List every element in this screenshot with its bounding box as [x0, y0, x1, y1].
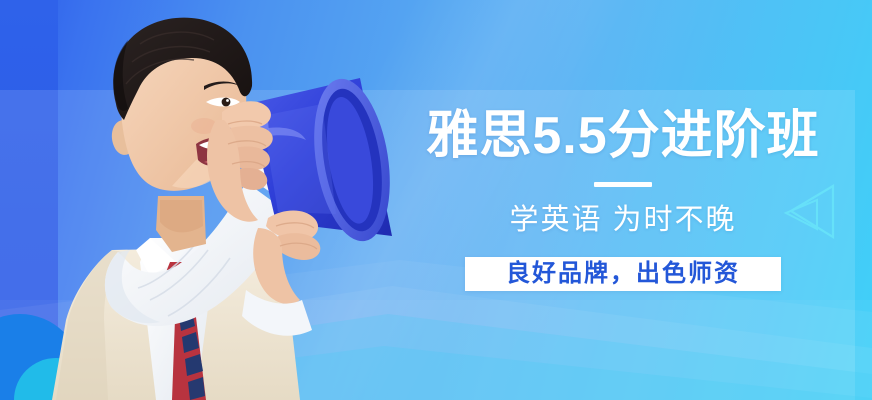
- status-badge: 良好品牌，出色师资: [465, 257, 781, 291]
- promo-subtitle: 学英语 为时不晚: [423, 200, 823, 240]
- page-title: 雅思5.5分进阶班: [423, 105, 823, 167]
- promo-copy-block: 雅思5.5分进阶班 学英语 为时不晚 良好品牌，出色师资: [423, 105, 823, 291]
- divider-line: [594, 182, 652, 187]
- person-photo: [0, 0, 420, 400]
- course-promo-banner: 雅思5.5分进阶班 学英语 为时不晚 良好品牌，出色师资: [0, 0, 872, 400]
